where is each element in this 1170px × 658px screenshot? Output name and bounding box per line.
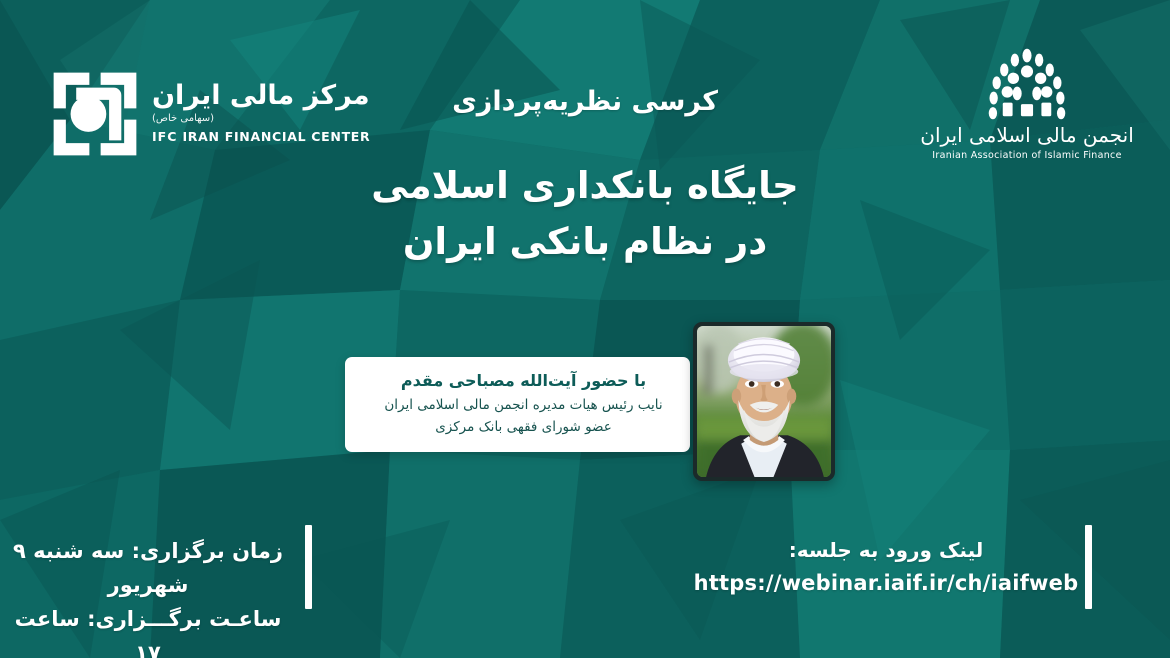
divider-right xyxy=(1085,525,1092,609)
speaker-role-line2: عضو شورای فقهی بانک مرکزی xyxy=(435,417,612,439)
join-link-url[interactable]: https://webinar.iaif.ir/ch/iaifweb xyxy=(676,566,1096,600)
iaif-logo-fa-name: انجمن مالی اسلامی ایران xyxy=(920,124,1134,146)
event-title-line2: در نظام بانکی ایران xyxy=(0,214,1170,270)
webinar-poster: مرکز مالی ایران (سهامی خاص) IFC IRAN FIN… xyxy=(0,0,1170,658)
event-datetime-block: زمان برگزاری: سه شنبه ۹ شهریور ساعـت برگ… xyxy=(0,534,296,658)
speaker-role-line1: نایب رئیس هیات مدیره انجمن مالی اسلامی ا… xyxy=(384,395,662,417)
speaker-photo-frame xyxy=(693,322,835,481)
event-date: زمان برگزاری: سه شنبه ۹ شهریور xyxy=(0,534,296,602)
event-time: ساعـت برگـــزاری: ساعت ۱۷ xyxy=(0,602,296,658)
join-link-block: لینک ورود به جلسه: https://webinar.iaif.… xyxy=(676,534,1096,600)
event-title-line1: جایگاه بانکداری اسلامی xyxy=(371,164,798,207)
event-title: جایگاه بانکداری اسلامی در نظام بانکی ایر… xyxy=(0,158,1170,270)
event-kicker: کرسی نظریه‌پردازی xyxy=(0,86,1170,117)
speaker-portrait xyxy=(697,326,831,477)
ifc-logo-en-abbr: IFC xyxy=(152,129,177,144)
ifc-logo-en-full: IRAN FINANCIAL CENTER xyxy=(182,129,370,144)
speaker-info-card: با حضور آیت‌الله مصباحی مقدم نایب رئیس ه… xyxy=(345,357,690,452)
ifc-logo-en-name: IFC IRAN FINANCIAL CENTER xyxy=(152,129,370,144)
divider-left xyxy=(305,525,312,609)
speaker-name: با حضور آیت‌الله مصباحی مقدم xyxy=(401,369,646,393)
join-link-label: لینک ورود به جلسه: xyxy=(676,534,1096,566)
